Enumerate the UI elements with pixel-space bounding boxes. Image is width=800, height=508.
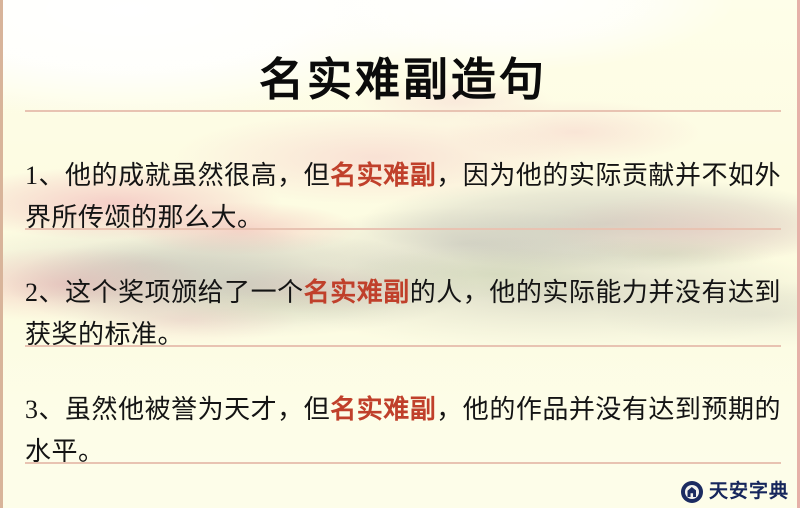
sentence-1-text-before: 1、他的成就虽然很高，但: [25, 161, 330, 190]
sentence-2-text-before: 2、这个奖项颁给了一个: [25, 278, 304, 307]
brand-name-label: 天安字典: [709, 481, 789, 503]
article-page: 名实难副造句 1、他的成就虽然很高，但名实难副，因为他的实际贡献并不如外界所传颂…: [0, 0, 800, 508]
sentence-item-3: 3、虽然他被誉为天才，但名实难副，他的作品并没有达到预期的水平。: [25, 389, 781, 473]
sentence-3-text-before: 3、虽然他被誉为天才，但: [25, 395, 330, 424]
site-brand: 天安字典: [681, 481, 789, 503]
sentence-1-keyword: 名实难副: [330, 161, 436, 190]
sentence-2-keyword: 名实难副: [304, 278, 410, 307]
divider-below-sentence-2: [25, 345, 781, 347]
sentence-3-keyword: 名实难副: [330, 395, 436, 424]
seal-icon: [681, 481, 703, 503]
divider-below-title: [25, 110, 781, 112]
sentence-item-1: 1、他的成就虽然很高，但名实难副，因为他的实际贡献并不如外界所传颂的那么大。: [25, 155, 781, 239]
divider-below-sentence-3: [25, 462, 781, 464]
page-content: 名实难副造句 1、他的成就虽然很高，但名实难副，因为他的实际贡献并不如外界所传颂…: [3, 0, 800, 508]
sentence-item-2: 2、这个奖项颁给了一个名实难副的人，他的实际能力并没有达到获奖的标准。: [25, 272, 781, 356]
divider-below-sentence-1: [25, 228, 781, 230]
page-title: 名实难副造句: [3, 52, 800, 108]
